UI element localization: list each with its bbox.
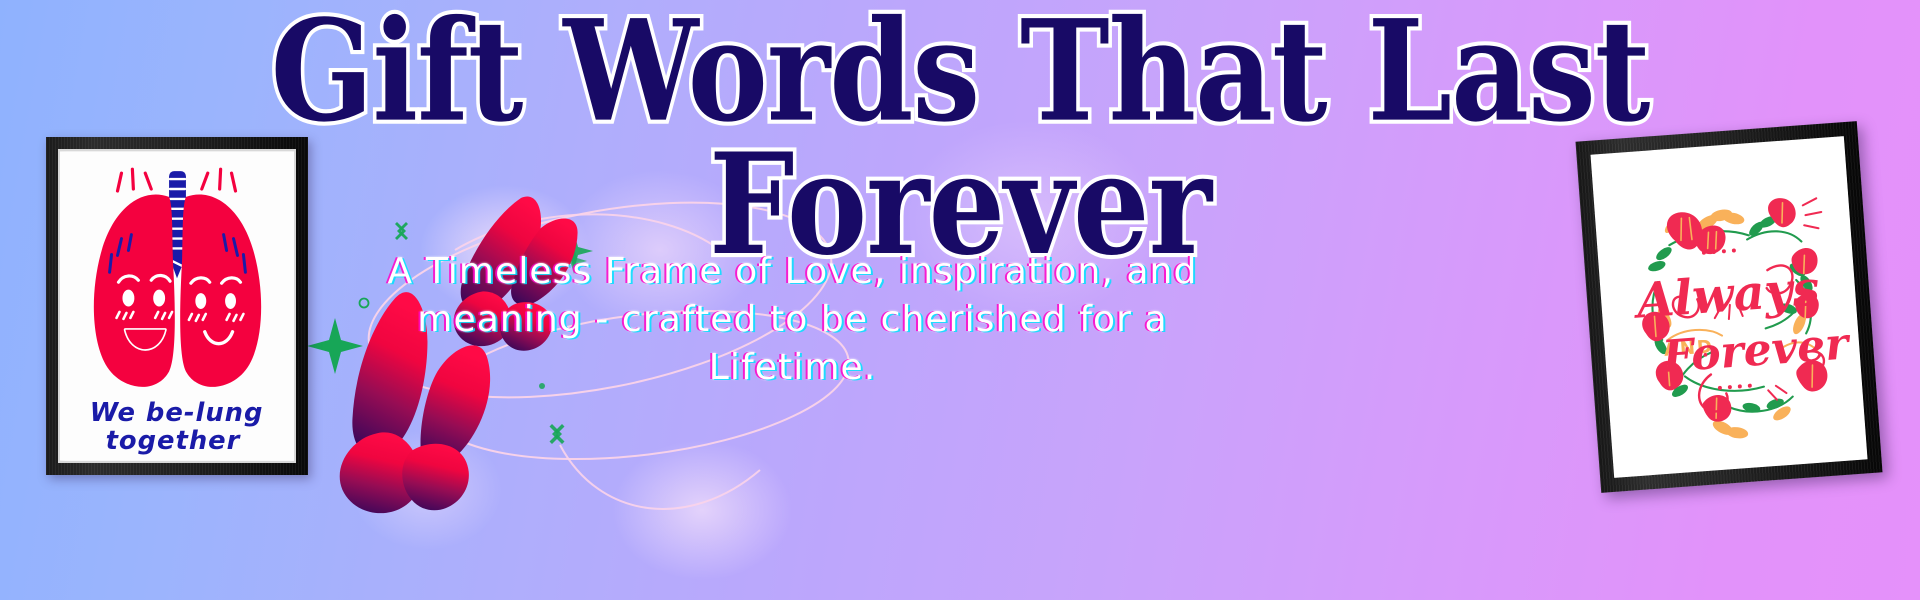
framed-poster-left[interactable]: We be-lung together <box>46 137 308 475</box>
eye-right-2 <box>225 293 236 309</box>
always-forever-artwork: Always AND Forever <box>1590 136 1867 478</box>
framed-poster-right[interactable]: Always AND Forever <box>1575 121 1882 493</box>
poster-caption-line-1: We be-lung <box>90 398 264 428</box>
poster-mat-right: Always AND Forever <box>1590 136 1867 478</box>
glow-accent-4 <box>352 430 502 550</box>
glow-accent-3 <box>612 440 792 580</box>
sparkle-four-point-large <box>307 318 363 374</box>
banner-subtitle: A Timeless Frame of Love, inspiration, a… <box>380 248 1205 393</box>
poster-mat-left: We be-lung together <box>58 149 296 463</box>
sparkle-small-cross-3 <box>550 424 563 444</box>
eye-right-1 <box>195 293 206 309</box>
poster-caption-line-2: together <box>106 426 242 456</box>
promo-banner: Gift Words That Last Forever A Timeless … <box>0 0 1920 600</box>
sparkle-small-cross-4 <box>552 424 565 444</box>
lungs-artwork: We be-lung together <box>60 151 294 461</box>
sparkle-ring <box>360 299 369 308</box>
eye-left-2 <box>153 290 165 307</box>
eye-left-1 <box>122 290 134 307</box>
